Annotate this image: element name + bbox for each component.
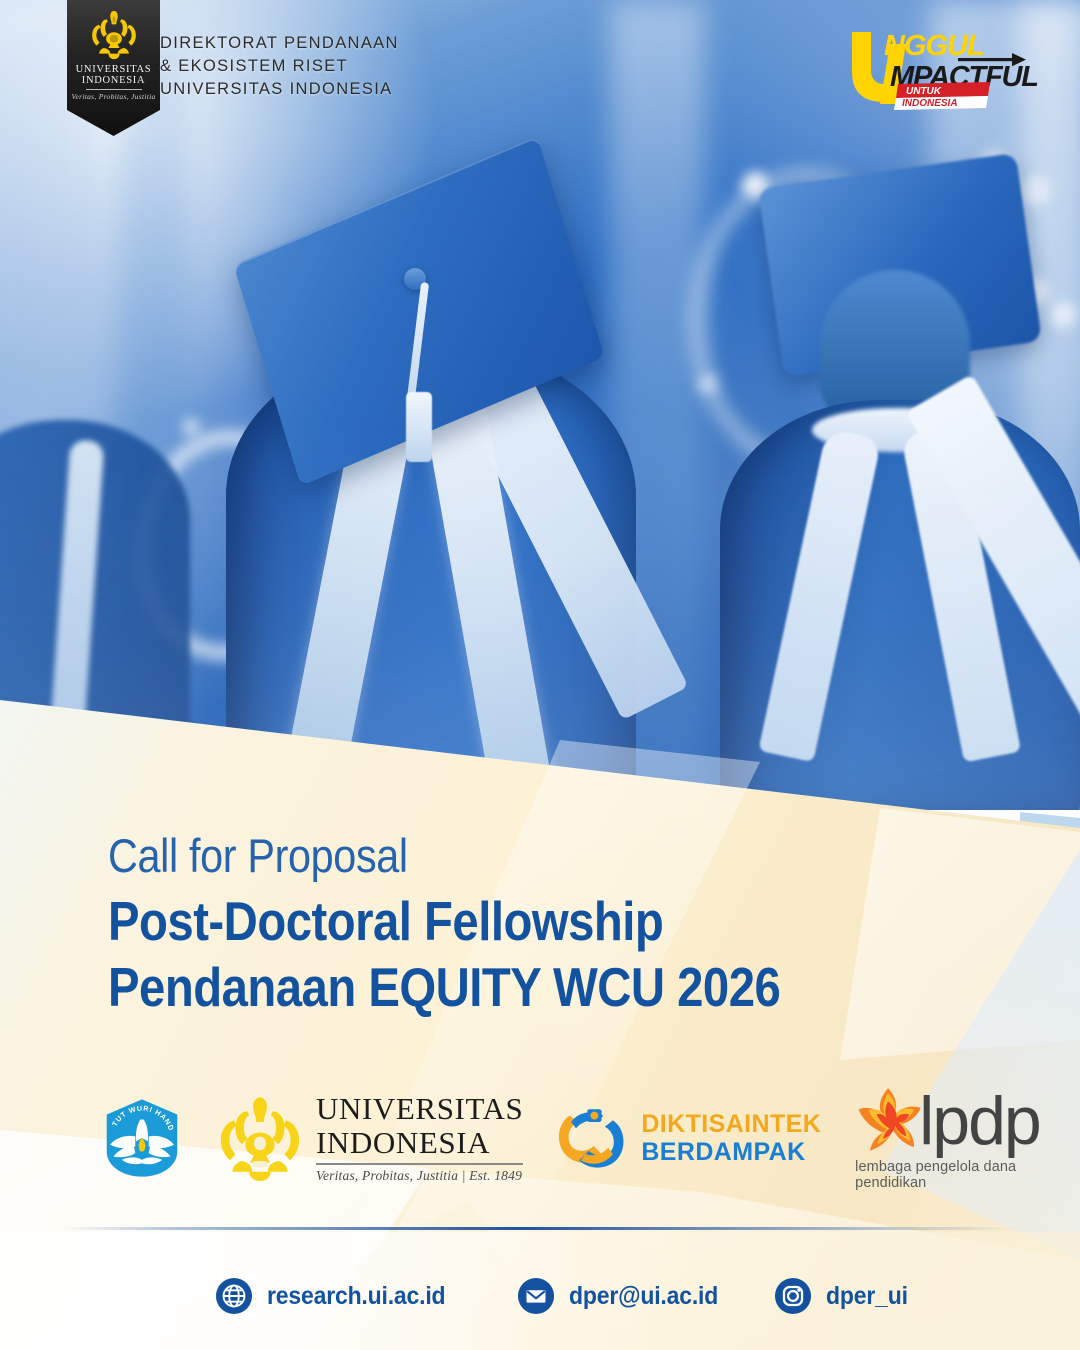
ui-wordmark-line1: UNIVERSITAS [316, 1092, 523, 1126]
ui-wordmark-rule [316, 1163, 523, 1165]
footer-divider [62, 1227, 1018, 1230]
partner-logo-kemdikbud: TUT WURI HANDAYANI [100, 1096, 184, 1180]
diktisaintek-wordmark: DIKTISAINTEK BERDAMPAK [641, 1110, 821, 1166]
globe-icon [215, 1277, 253, 1315]
ui-wordmark-line2: INDONESIA [316, 1126, 523, 1160]
ui-banner-rule [86, 89, 142, 90]
diktisaintek-line1: DIKTISAINTEK [641, 1110, 821, 1138]
partner-logo-diktisaintek: DIKTISAINTEK BERDAMPAK [551, 1098, 821, 1178]
directorate-line-1: DIREKTORAT PENDANAAN [160, 32, 399, 55]
unggul-impactful-logo: NGGUL MPACTFUL UNTUK INDONESIA [840, 22, 1040, 110]
ui-banner-line2: INDONESIA [82, 75, 145, 86]
headline-line-2: Pendanaan EQUITY WCU 2026 [108, 956, 813, 1018]
partner-logo-lpdp: lpdp lembaga pengelola dana pendidikan [855, 1085, 1040, 1191]
unggul-word: NGGUL [884, 30, 984, 62]
hero-photo [0, 0, 1080, 810]
poster-root: UNIVERSITAS INDONESIA Veritas, Probitas,… [0, 0, 1080, 1350]
diktisaintek-line2: BERDAMPAK [641, 1138, 821, 1166]
instagram-icon [774, 1277, 812, 1315]
directorate-line-3: UNIVERSITAS INDONESIA [160, 78, 399, 101]
headline-kicker: Call for Proposal [108, 826, 830, 886]
envelope-icon [517, 1277, 555, 1315]
tut-wuri-handayani-icon: TUT WURI HANDAYANI [100, 1096, 184, 1180]
contact-website-label: research.ui.ac.id [267, 1282, 445, 1311]
lpdp-wordmark: lpdp [919, 1090, 1040, 1152]
lpdp-flame-icon [855, 1085, 921, 1157]
ui-wordmark-motto: Veritas, Probitas, Justitia | Est. 1849 [316, 1168, 523, 1184]
contact-website[interactable]: research.ui.ac.id [215, 1277, 461, 1315]
contact-instagram[interactable]: dper_ui [774, 1277, 915, 1315]
partner-logo-universitas-indonesia: UNIVERSITAS INDONESIA Veritas, Probitas,… [214, 1092, 523, 1184]
diktisaintek-figure-icon [551, 1098, 633, 1178]
photo-overlay-wash [0, 0, 1080, 810]
indonesia-word: INDONESIA [902, 98, 958, 109]
unggul-impactful-icon: NGGUL MPACTFUL UNTUK INDONESIA [840, 22, 1040, 110]
headline-block: Call for Proposal Post-Doctoral Fellowsh… [108, 826, 928, 1018]
untuk-word: UNTUK [906, 86, 942, 97]
ui-banner-logo: UNIVERSITAS INDONESIA Veritas, Probitas,… [67, 0, 160, 136]
headline-line-1: Post-Doctoral Fellowship [108, 890, 813, 952]
ui-banner-line1: UNIVERSITAS [76, 64, 152, 75]
ui-makara-icon [86, 9, 142, 61]
contact-email[interactable]: dper@ui.ac.id [517, 1277, 731, 1315]
partner-logo-row: TUT WURI HANDAYANI [100, 1082, 1020, 1194]
directorate-title: DIREKTORAT PENDANAAN & EKOSISTEM RISET U… [160, 32, 399, 101]
ui-makara-icon [214, 1094, 306, 1182]
directorate-line-2: & EKOSISTEM RISET [160, 55, 399, 78]
lpdp-subtitle: lembaga pengelola dana pendidikan [855, 1159, 1040, 1191]
contact-instagram-label: dper_ui [826, 1282, 908, 1311]
ui-wordmark: UNIVERSITAS INDONESIA Veritas, Probitas,… [316, 1092, 523, 1184]
ui-banner-motto: Veritas, Probitas, Justitia [71, 92, 155, 101]
contact-email-label: dper@ui.ac.id [569, 1282, 718, 1311]
contact-bar: research.ui.ac.id dper@ui.ac.id dper_ui [215, 1272, 915, 1320]
